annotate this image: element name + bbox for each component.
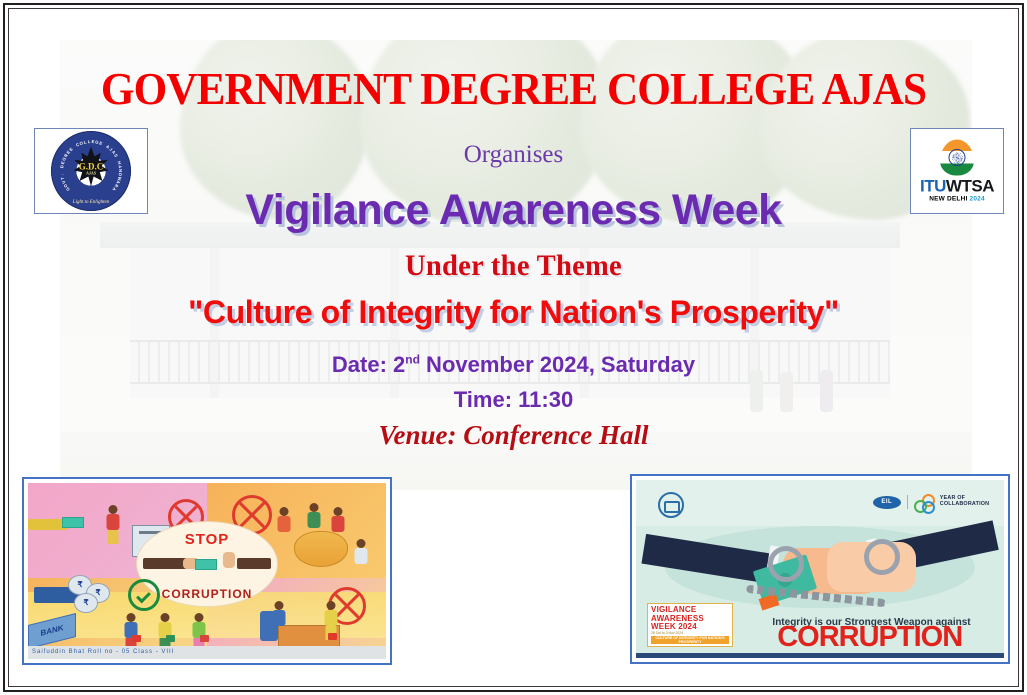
event-poster: GOVT. DEGREE COLLEGE AJAS HANDWARA G.D.C… <box>0 0 1027 695</box>
date-prefix: Date: 2 <box>332 352 405 377</box>
briefcase-icon <box>328 633 337 640</box>
figure-body <box>107 514 120 530</box>
figure-body <box>325 610 338 626</box>
graphic-headline: CORRUPTION <box>739 621 1000 654</box>
theme-text: "Culture of Integrity for Nation's Prosp… <box>0 294 1027 331</box>
figure-head <box>280 507 289 516</box>
year-of-collaboration-label: YEAR OF COLLABORATION <box>940 496 990 508</box>
date-ordinal-suffix: nd <box>405 353 420 367</box>
figure-head <box>327 601 336 610</box>
currency-note-icon <box>195 559 217 570</box>
briefcase-icon <box>200 635 209 642</box>
figure-body <box>355 548 368 564</box>
event-time-line: Time: 11:30 <box>0 387 1027 413</box>
organises-label: Organises <box>0 141 1027 169</box>
official-figure <box>274 507 294 541</box>
student-drawing-image: VOTE STOP <box>28 483 386 659</box>
collab-ring-blue <box>922 501 935 514</box>
logo-divider <box>907 495 908 509</box>
handcuff-ring-right <box>864 539 900 575</box>
briefcase-icon <box>166 635 175 642</box>
figure-head <box>334 507 343 516</box>
approved-tick-icon <box>128 579 160 611</box>
figure-head <box>195 613 204 622</box>
date-suffix: November 2024, Saturday <box>420 352 695 377</box>
figure-legs <box>108 530 119 544</box>
figure-head <box>161 613 170 622</box>
figure-head <box>310 503 319 512</box>
partner-logos: EIL YEAR OF COLLABORATION <box>873 494 990 510</box>
refusing-hand-icon <box>223 552 235 568</box>
badge-theme-strip: CULTURE OF INTEGRITY FOR NATION'S PROSPE… <box>651 636 729 644</box>
figure-body <box>308 512 321 528</box>
badge-dates: 28 Oct to 3 Nov 2024 <box>651 632 729 636</box>
graphic-bottom-bar <box>636 653 1004 658</box>
figure-body <box>332 516 345 532</box>
theme-label: Under the Theme <box>26 249 1002 283</box>
event-date-line: Date: 2nd November 2024, Saturday <box>0 352 1027 378</box>
visitor-figure <box>320 601 342 647</box>
giving-hand-arm <box>143 558 187 569</box>
drawing-caption: Saifuddin Bhat Roll no - 05 Class - VIII <box>28 646 386 659</box>
event-name-heading: Vigilance Awareness Week <box>0 186 1027 235</box>
vigilance-graphic-canvas: EIL YEAR OF COLLABORATION <box>636 480 1004 658</box>
vigilance-graphic-image: EIL YEAR OF COLLABORATION <box>636 480 1004 658</box>
year-of-collaboration-icon <box>914 494 934 510</box>
collaboration-text: COLLABORATION <box>940 502 990 508</box>
figure-body <box>273 610 286 626</box>
college-title: GOVERNMENT DEGREE COLLEGE AJAS <box>31 62 996 115</box>
officer-figure <box>268 601 290 641</box>
rupee-coin-icon: ₹ <box>74 593 98 613</box>
event-venue-line: Venue: Conference Hall <box>0 420 1027 451</box>
figure-head <box>275 601 284 610</box>
figure-body <box>278 516 291 532</box>
figure-head <box>357 539 366 548</box>
briefcase-icon <box>132 635 141 642</box>
official-figure <box>328 507 348 541</box>
voter-figure <box>100 505 126 549</box>
vigilance-week-badge: VIGILANCE AWARENESS WEEK 2024 28 Oct to … <box>647 603 733 647</box>
vigilance-graphic-frame: EIL YEAR OF COLLABORATION <box>630 474 1010 664</box>
official-figure <box>304 503 324 537</box>
figure-head <box>127 613 136 622</box>
student-drawing-frame: VOTE STOP <box>22 477 392 665</box>
currency-note-icon <box>62 517 84 528</box>
citizen-figure <box>350 539 372 577</box>
eil-logo-icon: EIL <box>873 496 901 509</box>
refusing-hand-arm <box>237 558 271 569</box>
stop-word: STOP <box>137 531 277 548</box>
figure-head <box>109 505 118 514</box>
